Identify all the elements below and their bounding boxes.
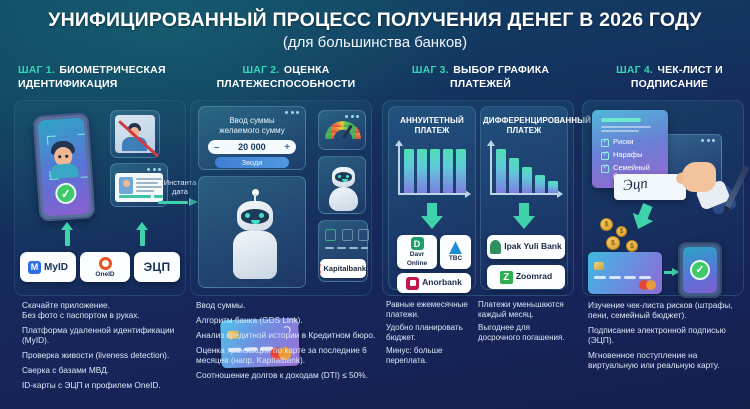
step-title-2: ОЦЕНКА ПЛАТЕЖЕСПОСОБНОСТИ bbox=[217, 64, 356, 90]
step-number-3: ШАГ 3. bbox=[412, 64, 449, 76]
note-step1-2: Проверка живости (liveness detection). bbox=[22, 350, 190, 360]
step-header-1: ШАГ 1. БИОМЕТРИЧЕСКАЯ ИДЕНТИФИКАЦИЯ bbox=[18, 63, 208, 90]
tbc-label: TBC bbox=[449, 255, 462, 263]
amount-value: 20 000 bbox=[238, 142, 266, 152]
chart-y-axis bbox=[398, 145, 400, 195]
user-face-illustration bbox=[47, 140, 79, 176]
annuity-payment-panel: АННУИТЕТНЫЙ ПЛАТЕЖ Davr Online TBC Anorb… bbox=[388, 106, 476, 290]
title-block: УНИФИЦИРОВАННЫЙ ПРОЦЕСС ПОЛУЧЕНИЯ ДЕНЕГ … bbox=[0, 9, 750, 51]
step-3-panel: АННУИТЕТНЫЙ ПЛАТЕЖ Davr Online TBC Anorb… bbox=[382, 100, 574, 296]
note-step2-0: Ввод суммы. bbox=[196, 300, 376, 310]
coin-icon: $ bbox=[626, 240, 638, 252]
checkbox-checked-icon[interactable] bbox=[601, 165, 609, 173]
tbc-mark-icon bbox=[449, 241, 462, 254]
differentiated-payment-panel: ДИФФЕРЕНЦИРОВАННЫЙ ПЛАТЕЖ Ipak Yuli Bank… bbox=[480, 106, 568, 290]
arrow-down-icon-annuity bbox=[421, 203, 443, 229]
robot-assistant-icon bbox=[225, 191, 285, 283]
note-differentiated-0: Платежи уменьшаются каждый месяц. bbox=[478, 300, 570, 319]
kapitalbank-transactions-card: Kapitalbank bbox=[318, 220, 368, 282]
step-number-4: ШАГ 4. bbox=[616, 64, 653, 76]
credit-score-gauge bbox=[318, 110, 366, 150]
chart-bar-1 bbox=[417, 149, 427, 193]
zoomrad-mark-icon bbox=[500, 271, 513, 284]
davr-label-line1: Davr bbox=[410, 251, 424, 259]
chart-bar-4 bbox=[548, 181, 558, 193]
step-2-notes: Ввод суммы.Алгоритм банка (GDS Link).Ана… bbox=[196, 300, 376, 380]
chart-bar-2 bbox=[522, 167, 532, 193]
kapitalbank-label: Kapitalbank bbox=[323, 264, 366, 273]
checklist-label-0: Риски bbox=[613, 138, 633, 147]
logo-zoomrad[interactable]: Zoomrad bbox=[487, 265, 565, 289]
window-dots-icon bbox=[285, 111, 299, 114]
step-header-3: ШАГ 3. ВЫБОР ГРАФИКА ПЛАТЕЖЕЙ bbox=[388, 63, 573, 90]
note-step1-1: Платформа удаленной идентификации (MyID)… bbox=[22, 325, 190, 345]
chart-bars bbox=[496, 145, 558, 193]
step-headers: ШАГ 1. БИОМЕТРИЧЕСКАЯ ИДЕНТИФИКАЦИЯ ШАГ … bbox=[0, 63, 750, 99]
logo-kapitalbank[interactable]: Kapitalbank bbox=[320, 259, 366, 278]
amount-input-window: Ввод суммы желаемого сумму – 20 000 + Зв… bbox=[198, 106, 306, 170]
kapitalbank-mark-icon bbox=[320, 264, 321, 274]
note-step2-3: Оценка транзакций по карте за последние … bbox=[196, 345, 376, 365]
ipak-label: Ipak Yuli Bank bbox=[504, 243, 561, 251]
chart-x-axis bbox=[398, 193, 466, 195]
checkbox-checked-icon[interactable] bbox=[601, 139, 609, 147]
zoomrad-label: Zoomrad bbox=[516, 273, 552, 281]
success-check-icon: ✓ bbox=[690, 260, 710, 280]
checklist-item[interactable]: Нарафы bbox=[601, 151, 643, 160]
result-bank-card bbox=[588, 252, 662, 294]
infographic-page: УНИФИЦИРОВАННЫЙ ПРОЦЕСС ПОЛУЧЕНИЯ ДЕНЕГ … bbox=[0, 0, 750, 409]
checkbox-checked-icon[interactable] bbox=[601, 152, 609, 160]
logo-davr-online[interactable]: Davr Online bbox=[397, 235, 437, 269]
logo-ecp[interactable]: ЭЦП bbox=[134, 252, 180, 282]
step-header-4: ШАГ 4. ЧЕК-ЛИСТ И ПОДПИСАНИЕ bbox=[592, 63, 747, 90]
hand-signing-illustration bbox=[674, 144, 728, 206]
note-step2-4: Соотношение долгов к доходам (DTI) ≤ 50%… bbox=[196, 370, 376, 380]
arrow-down-icon-differentiated bbox=[513, 203, 535, 229]
signature-text: Эцп bbox=[622, 176, 648, 196]
smartphone-biometric-scan: ✓ bbox=[32, 112, 95, 222]
logo-anorbank[interactable]: Anorbank bbox=[397, 273, 471, 293]
note-step2-1: Алгоритм банка (GDS Link). bbox=[196, 315, 376, 325]
robot-assistant-small-icon bbox=[326, 163, 361, 210]
coin-icon: $ bbox=[600, 218, 613, 231]
window-dots-icon bbox=[345, 115, 359, 118]
page-title: УНИФИЦИРОВАННЫЙ ПРОЦЕСС ПОЛУЧЕНИЯ ДЕНЕГ … bbox=[0, 9, 750, 32]
ecp-label: ЭЦП bbox=[144, 260, 171, 274]
note-differentiated-1: Выгоднее для досрочного погашения. bbox=[478, 323, 570, 342]
share-icon bbox=[358, 229, 369, 241]
document-icon bbox=[342, 229, 353, 241]
result-smartphone: ✓ bbox=[678, 242, 722, 298]
chart-bar-3 bbox=[535, 175, 545, 193]
step-header-2: ШАГ 2. ОЦЕНКА ПЛАТЕЖЕСПОСОБНОСТИ bbox=[196, 63, 376, 90]
coin-icon: $ bbox=[616, 226, 627, 237]
phone-screen: ✓ bbox=[38, 118, 91, 217]
step-2-panel: Ввод суммы желаемого сумму – 20 000 + Зв… bbox=[190, 100, 372, 296]
step-1-notes: Скачайте приложение.Без фото с паспортом… bbox=[22, 300, 190, 390]
id-card-face bbox=[115, 173, 163, 202]
note-step1-4: ID-карты с ЭЦП и профилем OneID. bbox=[22, 380, 190, 390]
davr-label-line2: Online bbox=[407, 260, 427, 268]
doc-header-bar bbox=[601, 118, 641, 122]
amount-stepper[interactable]: – 20 000 + bbox=[208, 140, 296, 154]
logo-tbc[interactable]: TBC bbox=[440, 235, 471, 269]
arrow-up-stem-2 bbox=[140, 230, 145, 246]
anorbank-mark-icon bbox=[406, 277, 419, 290]
logo-ipak-yuli-bank[interactable]: Ipak Yuli Bank bbox=[487, 235, 565, 259]
differentiated-notes: Платежи уменьшаются каждый месяц.Выгодне… bbox=[478, 300, 570, 346]
davr-mark-icon bbox=[411, 237, 424, 250]
chart-x-axis bbox=[490, 193, 558, 195]
differentiated-panel-title: ДИФФЕРЕНЦИРОВАННЫЙ ПЛАТЕЖ bbox=[483, 116, 565, 136]
step-number-1: ШАГ 1. bbox=[18, 64, 55, 76]
note-step4-1: Подписание электронной подписью (ЭЦП). bbox=[588, 325, 746, 345]
note-annuity-0: Равные ежемесячные платежи. bbox=[386, 300, 472, 319]
oneid-mark-icon bbox=[99, 257, 112, 270]
oneid-label: OneID bbox=[95, 271, 114, 278]
chart-bar-0 bbox=[404, 149, 414, 193]
amount-title-line2: желаемого сумму bbox=[199, 126, 305, 136]
chart-bars bbox=[404, 145, 466, 193]
window-dots-icon bbox=[701, 139, 715, 142]
coin-icon: $ bbox=[606, 236, 620, 250]
verified-check-icon: ✓ bbox=[55, 182, 77, 204]
differentiated-bar-chart bbox=[488, 143, 562, 199]
logo-myid[interactable]: M MyID bbox=[20, 252, 76, 282]
myid-label: MyID bbox=[44, 262, 68, 273]
ai-robot-secondary-panel bbox=[318, 156, 366, 214]
arrow-up-stem-1 bbox=[65, 230, 70, 246]
increment-button[interactable]: + bbox=[284, 142, 290, 153]
note-annuity-1: Удобно планировать бюджет. bbox=[386, 323, 472, 342]
myid-mark-icon: M bbox=[28, 261, 41, 274]
wallet-icon bbox=[325, 229, 336, 241]
card-network-icon-2 bbox=[646, 280, 656, 290]
chart-bar-2 bbox=[430, 149, 440, 193]
chart-bar-1 bbox=[509, 158, 519, 193]
transaction-doc-icons bbox=[324, 227, 362, 253]
phone-screen: ✓ bbox=[683, 247, 717, 293]
ipak-mark-icon bbox=[490, 240, 501, 254]
note-step1-3: Сверка с базами МВД. bbox=[22, 365, 190, 375]
step-title-3: ВЫБОР ГРАФИКА ПЛАТЕЖЕЙ bbox=[450, 64, 549, 90]
note-annuity-2: Минус: больше переплата. bbox=[386, 346, 472, 365]
note-step4-2: Мгновенное поступление на виртуальную ил… bbox=[588, 350, 746, 370]
annuity-panel-title: АННУИТЕТНЫЙ ПЛАТЕЖ bbox=[391, 116, 473, 136]
chart-bar-4 bbox=[456, 149, 466, 193]
amount-title-line1: Ввод суммы bbox=[199, 116, 305, 126]
arrow-up-icon-1 bbox=[61, 222, 73, 230]
chart-bar-3 bbox=[443, 149, 453, 193]
anorbank-label: Anorbank bbox=[422, 279, 462, 287]
decrement-button[interactable]: – bbox=[214, 142, 220, 153]
note-step1-0: Скачайте приложение.Без фото с паспортом… bbox=[22, 300, 190, 320]
note-step2-2: Анализ кредитной истории в Кредитном бюр… bbox=[196, 330, 376, 340]
annuity-bar-chart bbox=[396, 143, 470, 199]
photo-thumbnail bbox=[115, 115, 155, 153]
annuity-notes: Равные ежемесячные платежи.Удобно планир… bbox=[386, 300, 472, 369]
chart-bar-0 bbox=[496, 149, 506, 193]
page-subtitle: (для большинства банков) bbox=[0, 34, 750, 51]
submit-amount-button[interactable]: Зводи bbox=[215, 157, 289, 168]
card-chip-icon bbox=[594, 262, 604, 270]
chart-y-axis bbox=[490, 145, 492, 195]
checklist-label-1: Нарафы bbox=[613, 151, 643, 160]
ai-robot-panel bbox=[198, 176, 306, 288]
id-photo-icon bbox=[119, 177, 133, 194]
note-step4-0: Изучение чек-листа рисков (штрафы, пени,… bbox=[588, 300, 746, 320]
window-dots-icon bbox=[147, 168, 161, 171]
amount-panel-title: Ввод суммы желаемого сумму bbox=[199, 116, 305, 135]
no-passport-photo-card bbox=[110, 110, 160, 158]
step-4-panel: Риски Нарафы Семейный бюджет Эцп $ $ bbox=[582, 100, 744, 296]
arrow-up-icon-2 bbox=[136, 222, 148, 230]
logo-oneid[interactable]: OneID bbox=[80, 252, 130, 282]
step-4-notes: Изучение чек-листа рисков (штрафы, пени,… bbox=[588, 300, 746, 370]
checklist-item[interactable]: Риски bbox=[601, 138, 633, 147]
step-number-2: ШАГ 2. bbox=[242, 64, 279, 76]
